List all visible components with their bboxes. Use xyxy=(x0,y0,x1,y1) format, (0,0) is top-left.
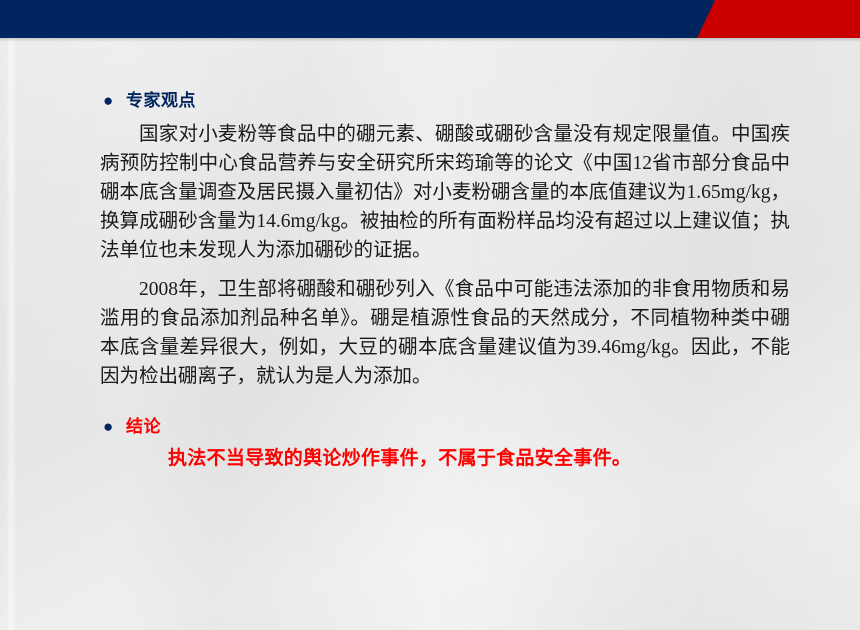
conclusion-heading: 结论 xyxy=(126,414,161,440)
slide: ● 专家观点 国家对小麦粉等食品中的硼元素、硼酸或硼砂含量没有规定限量值。中国疾… xyxy=(0,0,860,630)
slide-content: ● 专家观点 国家对小麦粉等食品中的硼元素、硼酸或硼砂含量没有规定限量值。中国疾… xyxy=(0,38,860,630)
expert-opinion-paragraph-1: 国家对小麦粉等食品中的硼元素、硼酸或硼砂含量没有规定限量值。中国疾病预防控制中心… xyxy=(100,120,790,265)
bullet-dot-icon: ● xyxy=(100,414,126,440)
expert-opinion-paragraph-2: 2008年，卫生部将硼酸和硼砂列入《食品中可能违法添加的非食用物质和易滥用的食品… xyxy=(100,275,790,391)
bullet-dot-icon: ● xyxy=(100,88,126,114)
expert-opinion-heading-row: ● 专家观点 xyxy=(100,88,790,114)
conclusion-statement: 执法不当导致的舆论炒作事件，不属于食品安全事件。 xyxy=(168,444,790,472)
section-expert-opinion: ● 专家观点 国家对小麦粉等食品中的硼元素、硼酸或硼砂含量没有规定限量值。中国疾… xyxy=(100,88,790,391)
slide-header-banner xyxy=(0,0,860,38)
conclusion-heading-row: ● 结论 xyxy=(100,414,790,440)
expert-opinion-heading: 专家观点 xyxy=(126,88,196,114)
section-conclusion: ● 结论 执法不当导致的舆论炒作事件，不属于食品安全事件。 xyxy=(100,414,790,472)
